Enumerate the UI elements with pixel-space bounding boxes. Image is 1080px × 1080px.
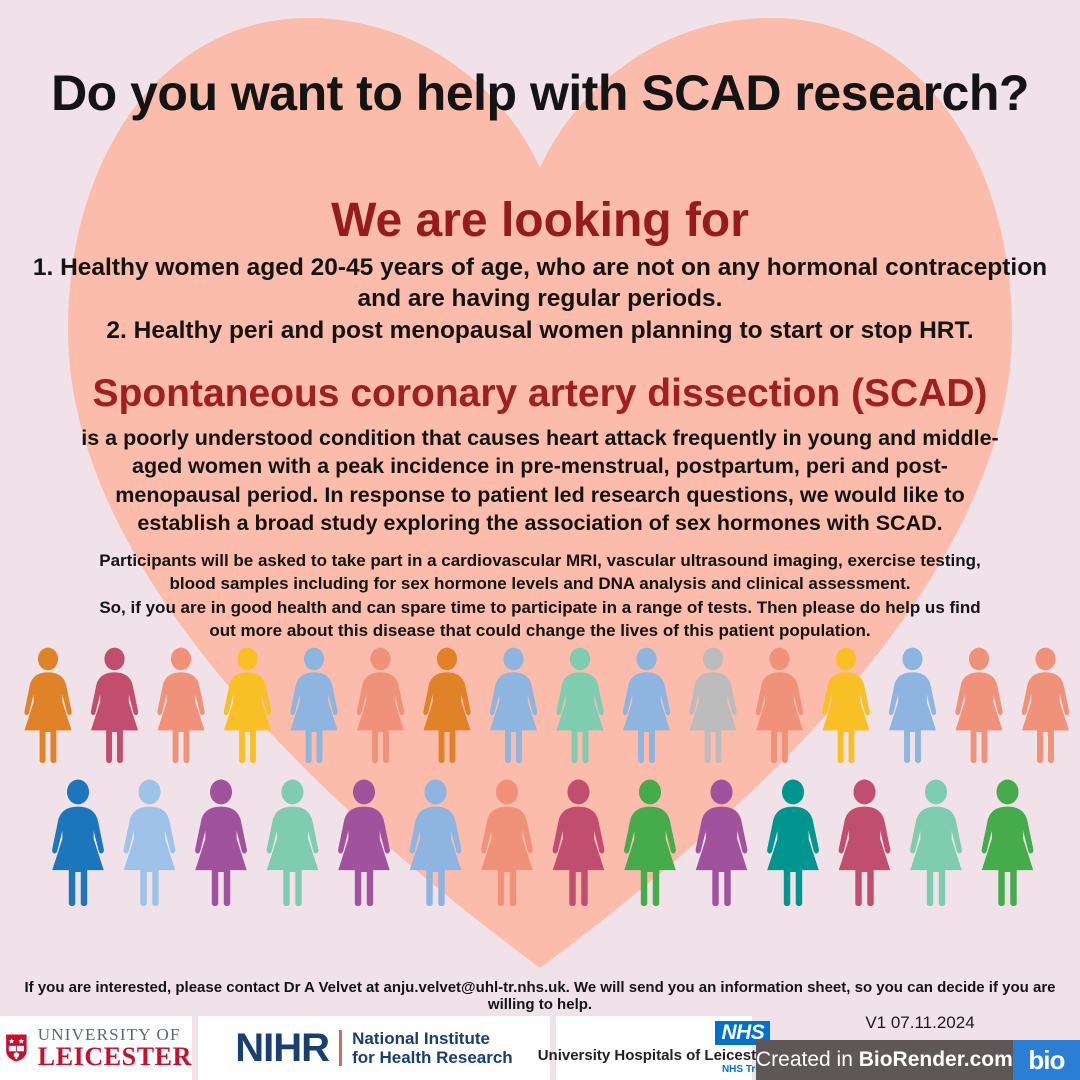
logo-university-of-leicester: UNIVERSITY OF LEICESTER bbox=[0, 1016, 192, 1080]
criteria-list: 1. Healthy women aged 20-45 years of age… bbox=[8, 252, 1072, 346]
leicester-line-1: UNIVERSITY OF bbox=[38, 1026, 192, 1043]
logo-nhs-uhl: NHS University Hospitals of Leicester NH… bbox=[556, 1016, 752, 1080]
looking-for-heading: We are looking for bbox=[0, 193, 1080, 248]
contact-line: If you are interested, please contact Dr… bbox=[20, 979, 1060, 1013]
leicester-crest-icon bbox=[4, 1020, 29, 1076]
nhs-trust-label: NHS Trust bbox=[538, 1065, 771, 1075]
watermark-text: Created in BioRender.com bbox=[756, 1048, 1013, 1072]
nihr-line-1: National Institute bbox=[352, 1029, 513, 1048]
scad-heading: Spontaneous coronary artery dissection (… bbox=[0, 372, 1080, 416]
nhs-trust-name: University Hospitals of Leicester bbox=[538, 1048, 771, 1063]
watermark-bar: Created in BioRender.com bbox=[756, 1040, 1013, 1080]
scad-description: is a poorly understood condition that ca… bbox=[70, 424, 1010, 538]
nihr-wordmark: NIHR bbox=[235, 1026, 329, 1071]
biorender-watermark: Created in BioRender.com bio bbox=[756, 1040, 1080, 1080]
watermark-brand: BioRender.com bbox=[859, 1048, 1013, 1071]
poster-text-layer: Do you want to help with SCAD research? … bbox=[0, 0, 1080, 1080]
criteria-item-1: 1. Healthy women aged 20-45 years of age… bbox=[8, 252, 1072, 315]
poster-canvas: Do you want to help with SCAD research? … bbox=[0, 0, 1080, 1080]
biorender-logo: bio bbox=[1013, 1040, 1080, 1080]
participants-paragraph: Participants will be asked to take part … bbox=[88, 549, 992, 642]
nihr-line-2: for Health Research bbox=[352, 1048, 513, 1067]
criteria-item-2: 2. Healthy peri and post menopausal wome… bbox=[8, 315, 1072, 346]
nihr-fullname: National Institute for Health Research bbox=[352, 1029, 513, 1067]
watermark-prefix: Created in bbox=[756, 1048, 859, 1071]
page-title: Do you want to help with SCAD research? bbox=[0, 64, 1080, 122]
leicester-line-2: LEICESTER bbox=[38, 1044, 192, 1070]
nihr-divider bbox=[339, 1030, 342, 1066]
logo-nihr: NIHR National Institute for Health Resea… bbox=[198, 1016, 550, 1080]
